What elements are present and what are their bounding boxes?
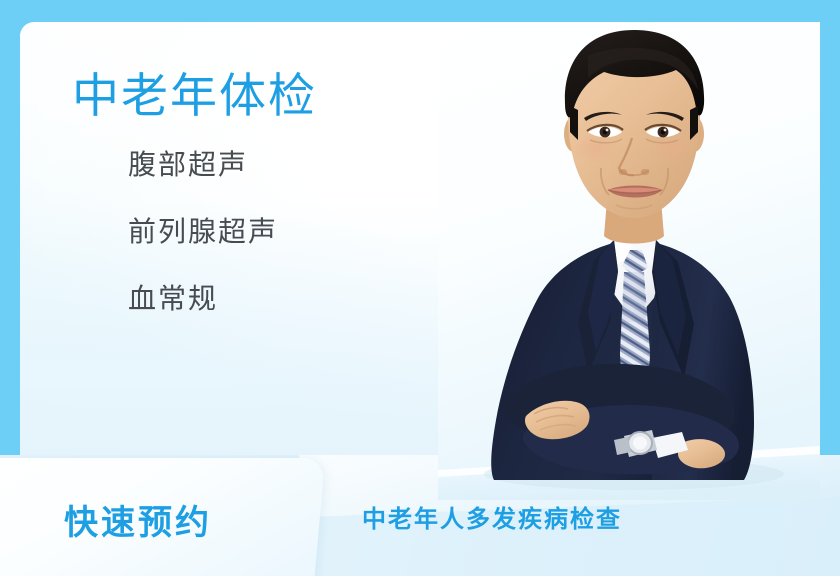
doctor-portrait-photo [438, 22, 820, 500]
list-item: 血常规 [128, 283, 317, 314]
feature-list: 腹部超声 前列腺超声 血常规 [128, 149, 317, 315]
text-column: 中老年体检 腹部超声 前列腺超声 血常规 [72, 70, 317, 315]
list-item: 前列腺超声 [128, 216, 317, 247]
list-item: 腹部超声 [128, 149, 317, 180]
quick-booking-button[interactable]: 快速预约 [64, 495, 212, 544]
tagline-text: 中老年人多发疾病检查 [362, 499, 622, 534]
promo-banner: 中老年体检 腹部超声 前列腺超声 血常规 快速预约 中老年人多发疾病检查 [0, 0, 840, 576]
page-title: 中老年体检 [72, 70, 317, 123]
